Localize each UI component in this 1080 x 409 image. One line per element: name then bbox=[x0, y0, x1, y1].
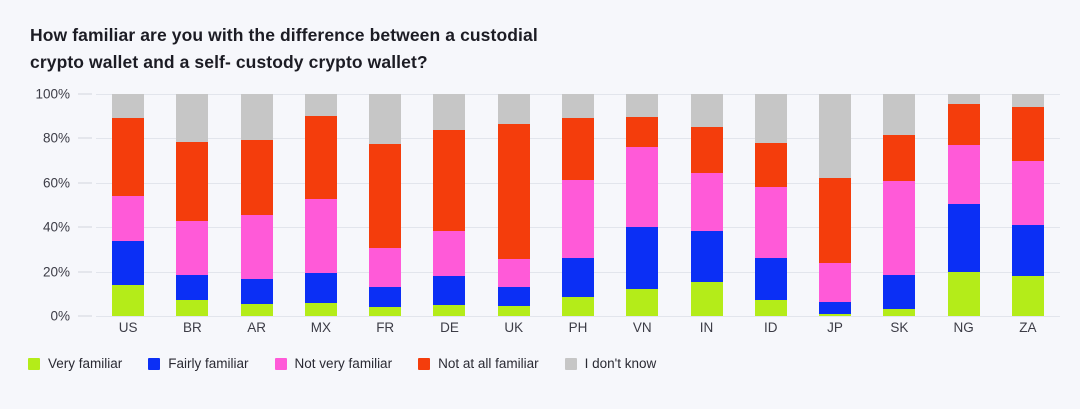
legend-label: Very familiar bbox=[48, 356, 122, 371]
bar-segment[interactable] bbox=[176, 275, 208, 301]
y-tick-label: 60% bbox=[43, 175, 70, 190]
bar-stack[interactable] bbox=[948, 94, 980, 316]
bar-group-jp[interactable] bbox=[803, 94, 867, 316]
bar-stack[interactable] bbox=[755, 94, 787, 316]
bar-group-za[interactable] bbox=[996, 94, 1060, 316]
bar-segment[interactable] bbox=[562, 297, 594, 316]
y-tick-dash bbox=[78, 182, 92, 183]
bar-segment[interactable] bbox=[369, 144, 401, 248]
bar-stack[interactable] bbox=[626, 94, 658, 316]
legend-item[interactable]: I don't know bbox=[565, 356, 657, 371]
bar-segment[interactable] bbox=[241, 304, 273, 316]
bar-segment[interactable] bbox=[755, 258, 787, 300]
legend-label: I don't know bbox=[585, 356, 657, 371]
bar-stack[interactable] bbox=[369, 94, 401, 316]
x-tick-label-vn: VN bbox=[610, 320, 674, 342]
y-tick-dash bbox=[78, 271, 92, 272]
bar-stack[interactable] bbox=[883, 94, 915, 316]
bar-stack[interactable] bbox=[562, 94, 594, 316]
bar-segment[interactable] bbox=[948, 94, 980, 104]
bar-group-mx[interactable] bbox=[289, 94, 353, 316]
bar-group-in[interactable] bbox=[674, 94, 738, 316]
legend-item[interactable]: Fairly familiar bbox=[148, 356, 248, 371]
bar-segment[interactable] bbox=[305, 94, 337, 116]
bar-stack[interactable] bbox=[305, 94, 337, 316]
bar-segment[interactable] bbox=[305, 116, 337, 199]
bar-segment[interactable] bbox=[112, 196, 144, 240]
legend-swatch-icon bbox=[148, 358, 160, 370]
bar-segment[interactable] bbox=[498, 287, 530, 306]
x-tick-label-jp: JP bbox=[803, 320, 867, 342]
bar-segment[interactable] bbox=[1012, 94, 1044, 107]
bar-segment[interactable] bbox=[755, 94, 787, 143]
bar-group-id[interactable] bbox=[739, 94, 803, 316]
x-tick-label-ar: AR bbox=[225, 320, 289, 342]
bar-segment[interactable] bbox=[1012, 225, 1044, 276]
chart-card: How familiar are you with the difference… bbox=[0, 0, 1080, 409]
bar-segment[interactable] bbox=[433, 130, 465, 231]
bar-segment[interactable] bbox=[305, 273, 337, 303]
bar-stack[interactable] bbox=[691, 94, 723, 316]
x-tick-label-ph: PH bbox=[546, 320, 610, 342]
chart-plot-wrapper: 0%20%40%60%80%100% bbox=[0, 94, 1080, 316]
gridline bbox=[96, 316, 1060, 317]
legend-item[interactable]: Very familiar bbox=[28, 356, 122, 371]
bar-segment[interactable] bbox=[305, 199, 337, 272]
bar-segment[interactable] bbox=[562, 180, 594, 259]
bar-segment[interactable] bbox=[305, 303, 337, 316]
y-tick-dash bbox=[78, 227, 92, 228]
bar-segment[interactable] bbox=[112, 118, 144, 196]
bar-segment[interactable] bbox=[112, 241, 144, 285]
bar-segment[interactable] bbox=[176, 142, 208, 221]
plot-area bbox=[96, 94, 1060, 316]
legend-swatch-icon bbox=[275, 358, 287, 370]
x-tick-label-mx: MX bbox=[289, 320, 353, 342]
x-tick-label-za: ZA bbox=[996, 320, 1060, 342]
legend-item[interactable]: Not very familiar bbox=[275, 356, 393, 371]
bar-group-fr[interactable] bbox=[353, 94, 417, 316]
legend-swatch-icon bbox=[565, 358, 577, 370]
bar-segment[interactable] bbox=[755, 300, 787, 316]
bar-segment[interactable] bbox=[498, 306, 530, 316]
bar-segment[interactable] bbox=[433, 276, 465, 305]
bar-group-ng[interactable] bbox=[931, 94, 995, 316]
bar-segment[interactable] bbox=[948, 272, 980, 316]
bar-segment[interactable] bbox=[369, 307, 401, 316]
y-tick-dash bbox=[78, 138, 92, 139]
x-tick-label-br: BR bbox=[160, 320, 224, 342]
bar-segment[interactable] bbox=[819, 302, 851, 314]
y-tick-dash bbox=[78, 94, 92, 95]
bar-segment[interactable] bbox=[433, 94, 465, 130]
y-tick-dash bbox=[78, 316, 92, 317]
bar-segment[interactable] bbox=[883, 309, 915, 316]
bar-group-de[interactable] bbox=[417, 94, 481, 316]
bar-segment[interactable] bbox=[1012, 161, 1044, 225]
x-tick-label-us: US bbox=[96, 320, 160, 342]
bar-segment[interactable] bbox=[433, 231, 465, 277]
bar-segment[interactable] bbox=[1012, 107, 1044, 160]
bar-segment[interactable] bbox=[176, 94, 208, 142]
bar-segment[interactable] bbox=[626, 147, 658, 227]
bar-group-ph[interactable] bbox=[546, 94, 610, 316]
chart-legend: Very familiarFairly familiarNot very fam… bbox=[28, 356, 656, 371]
bar-group-ar[interactable] bbox=[225, 94, 289, 316]
bar-stack[interactable] bbox=[498, 94, 530, 316]
y-tick-label: 20% bbox=[43, 264, 70, 279]
bar-segment[interactable] bbox=[498, 94, 530, 124]
bar-segment[interactable] bbox=[948, 104, 980, 145]
bar-segment[interactable] bbox=[369, 94, 401, 144]
bar-segment[interactable] bbox=[755, 187, 787, 258]
bar-segment[interactable] bbox=[948, 145, 980, 204]
bar-segment[interactable] bbox=[626, 227, 658, 289]
bar-segment[interactable] bbox=[369, 248, 401, 287]
y-tick-label: 80% bbox=[43, 131, 70, 146]
bar-segment[interactable] bbox=[112, 94, 144, 118]
bar-group-us[interactable] bbox=[96, 94, 160, 316]
bar-segment[interactable] bbox=[241, 215, 273, 279]
bar-segment[interactable] bbox=[819, 314, 851, 316]
bar-segment[interactable] bbox=[691, 127, 723, 173]
bar-stack[interactable] bbox=[112, 94, 144, 316]
bar-segment[interactable] bbox=[948, 204, 980, 272]
x-tick-label-de: DE bbox=[417, 320, 481, 342]
legend-swatch-icon bbox=[28, 358, 40, 370]
bar-segment[interactable] bbox=[176, 221, 208, 275]
bar-stack[interactable] bbox=[1012, 94, 1044, 316]
bar-segment[interactable] bbox=[498, 259, 530, 287]
bar-segment[interactable] bbox=[819, 94, 851, 178]
bar-segment[interactable] bbox=[626, 289, 658, 316]
bar-stack[interactable] bbox=[819, 94, 851, 316]
bar-group-br[interactable] bbox=[160, 94, 224, 316]
x-axis: USBRARMXFRDEUKPHVNINIDJPSKNGZA bbox=[96, 320, 1060, 342]
bar-segment[interactable] bbox=[691, 231, 723, 282]
bar-segment[interactable] bbox=[498, 124, 530, 259]
bar-segment[interactable] bbox=[883, 181, 915, 275]
bar-segment[interactable] bbox=[369, 287, 401, 307]
bar-series-container bbox=[96, 94, 1060, 316]
bar-segment[interactable] bbox=[176, 300, 208, 316]
x-tick-label-id: ID bbox=[739, 320, 803, 342]
bar-segment[interactable] bbox=[1012, 276, 1044, 316]
bar-segment[interactable] bbox=[691, 173, 723, 231]
bar-segment[interactable] bbox=[819, 178, 851, 262]
bar-stack[interactable] bbox=[176, 94, 208, 316]
y-tick-label: 0% bbox=[50, 309, 70, 324]
bar-segment[interactable] bbox=[755, 143, 787, 187]
legend-item[interactable]: Not at all familiar bbox=[418, 356, 539, 371]
bar-stack[interactable] bbox=[241, 94, 273, 316]
y-tick-label: 100% bbox=[35, 87, 70, 102]
bar-segment[interactable] bbox=[883, 275, 915, 309]
legend-label: Not at all familiar bbox=[438, 356, 539, 371]
legend-label: Fairly familiar bbox=[168, 356, 248, 371]
y-axis: 0%20%40%60%80%100% bbox=[0, 94, 76, 316]
bar-segment[interactable] bbox=[691, 282, 723, 316]
bar-segment[interactable] bbox=[112, 285, 144, 316]
bar-segment[interactable] bbox=[562, 258, 594, 297]
chart-title: How familiar are you with the difference… bbox=[30, 22, 730, 75]
bar-stack[interactable] bbox=[433, 94, 465, 316]
bar-segment[interactable] bbox=[883, 135, 915, 181]
bar-segment[interactable] bbox=[691, 94, 723, 127]
legend-label: Not very familiar bbox=[295, 356, 393, 371]
x-tick-label-ng: NG bbox=[931, 320, 995, 342]
x-tick-label-sk: SK bbox=[867, 320, 931, 342]
bar-group-uk[interactable] bbox=[482, 94, 546, 316]
bar-segment[interactable] bbox=[883, 94, 915, 135]
bar-segment[interactable] bbox=[819, 263, 851, 302]
bar-segment[interactable] bbox=[626, 94, 658, 117]
bar-segment[interactable] bbox=[562, 118, 594, 179]
bar-segment[interactable] bbox=[626, 117, 658, 147]
bar-group-vn[interactable] bbox=[610, 94, 674, 316]
y-tick-label: 40% bbox=[43, 220, 70, 235]
bar-group-sk[interactable] bbox=[867, 94, 931, 316]
x-tick-label-in: IN bbox=[674, 320, 738, 342]
bar-segment[interactable] bbox=[241, 279, 273, 303]
bar-segment[interactable] bbox=[433, 305, 465, 316]
x-tick-label-uk: UK bbox=[482, 320, 546, 342]
x-tick-label-fr: FR bbox=[353, 320, 417, 342]
bar-segment[interactable] bbox=[241, 94, 273, 140]
bar-segment[interactable] bbox=[241, 140, 273, 215]
bar-segment[interactable] bbox=[562, 94, 594, 118]
legend-swatch-icon bbox=[418, 358, 430, 370]
